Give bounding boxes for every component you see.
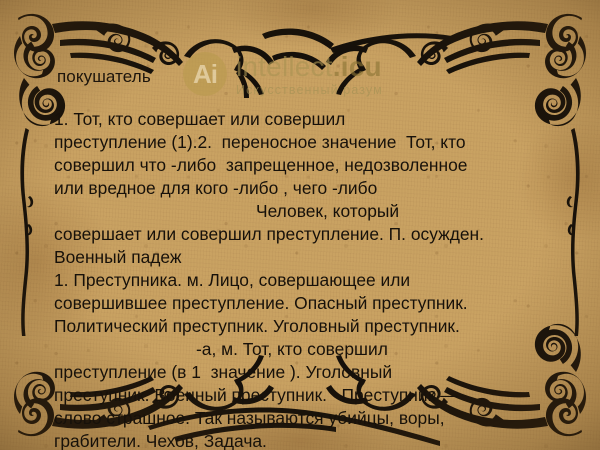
definition-line: 1. Тот, кто совершает или совершил bbox=[54, 108, 554, 131]
logo-glyph: Ai bbox=[193, 61, 217, 87]
definition-body: 1. Тот, кто совершает или совершилпресту… bbox=[54, 108, 554, 450]
parchment-slide: Ai intellect.icu Искусственный разум пок… bbox=[0, 0, 600, 450]
definition-line: Человек, который bbox=[54, 200, 554, 223]
watermark-subtitle: Искусственный разум bbox=[236, 83, 383, 97]
watermark: Ai intellect.icu Искусственный разум bbox=[183, 52, 383, 97]
ai-circle-logo-icon: Ai bbox=[183, 52, 227, 96]
definition-line: слово страшное. Так называются убийцы, в… bbox=[54, 407, 554, 430]
headword: покушатель bbox=[57, 67, 151, 87]
watermark-title: intellect.icu bbox=[236, 52, 383, 82]
watermark-name-secondary: .icu bbox=[333, 51, 382, 82]
definition-line: преступление (в 1 значение ). Уголовный bbox=[54, 361, 554, 384]
definition-line: Политический преступник. Уголовный прест… bbox=[54, 315, 554, 338]
definition-line: -а, м. Тот, кто совершил bbox=[54, 338, 554, 361]
definition-line: преступление (1).2. переносное значение … bbox=[54, 131, 554, 154]
definition-line: Военный падеж bbox=[54, 246, 554, 269]
definition-line: или вредное для кого -либо , чего -либо bbox=[54, 177, 554, 200]
definition-line: совершает или совершил преступление. П. … bbox=[54, 223, 554, 246]
watermark-text: intellect.icu Искусственный разум bbox=[236, 52, 383, 97]
definition-line: грабители. Чехов, Задача. bbox=[54, 430, 554, 450]
definition-line: совершившее преступление. Опасный престу… bbox=[54, 292, 554, 315]
watermark-name-primary: intellect bbox=[236, 51, 333, 82]
left-border-rule-icon bbox=[20, 128, 33, 336]
definition-line: совершил что -либо запрещенное, недозвол… bbox=[54, 154, 554, 177]
right-border-rule-icon bbox=[567, 128, 580, 336]
definition-line: преступник. Военный преступник. Преступн… bbox=[54, 384, 554, 407]
definition-line: 1. Преступника. м. Лицо, совершающее или bbox=[54, 269, 554, 292]
